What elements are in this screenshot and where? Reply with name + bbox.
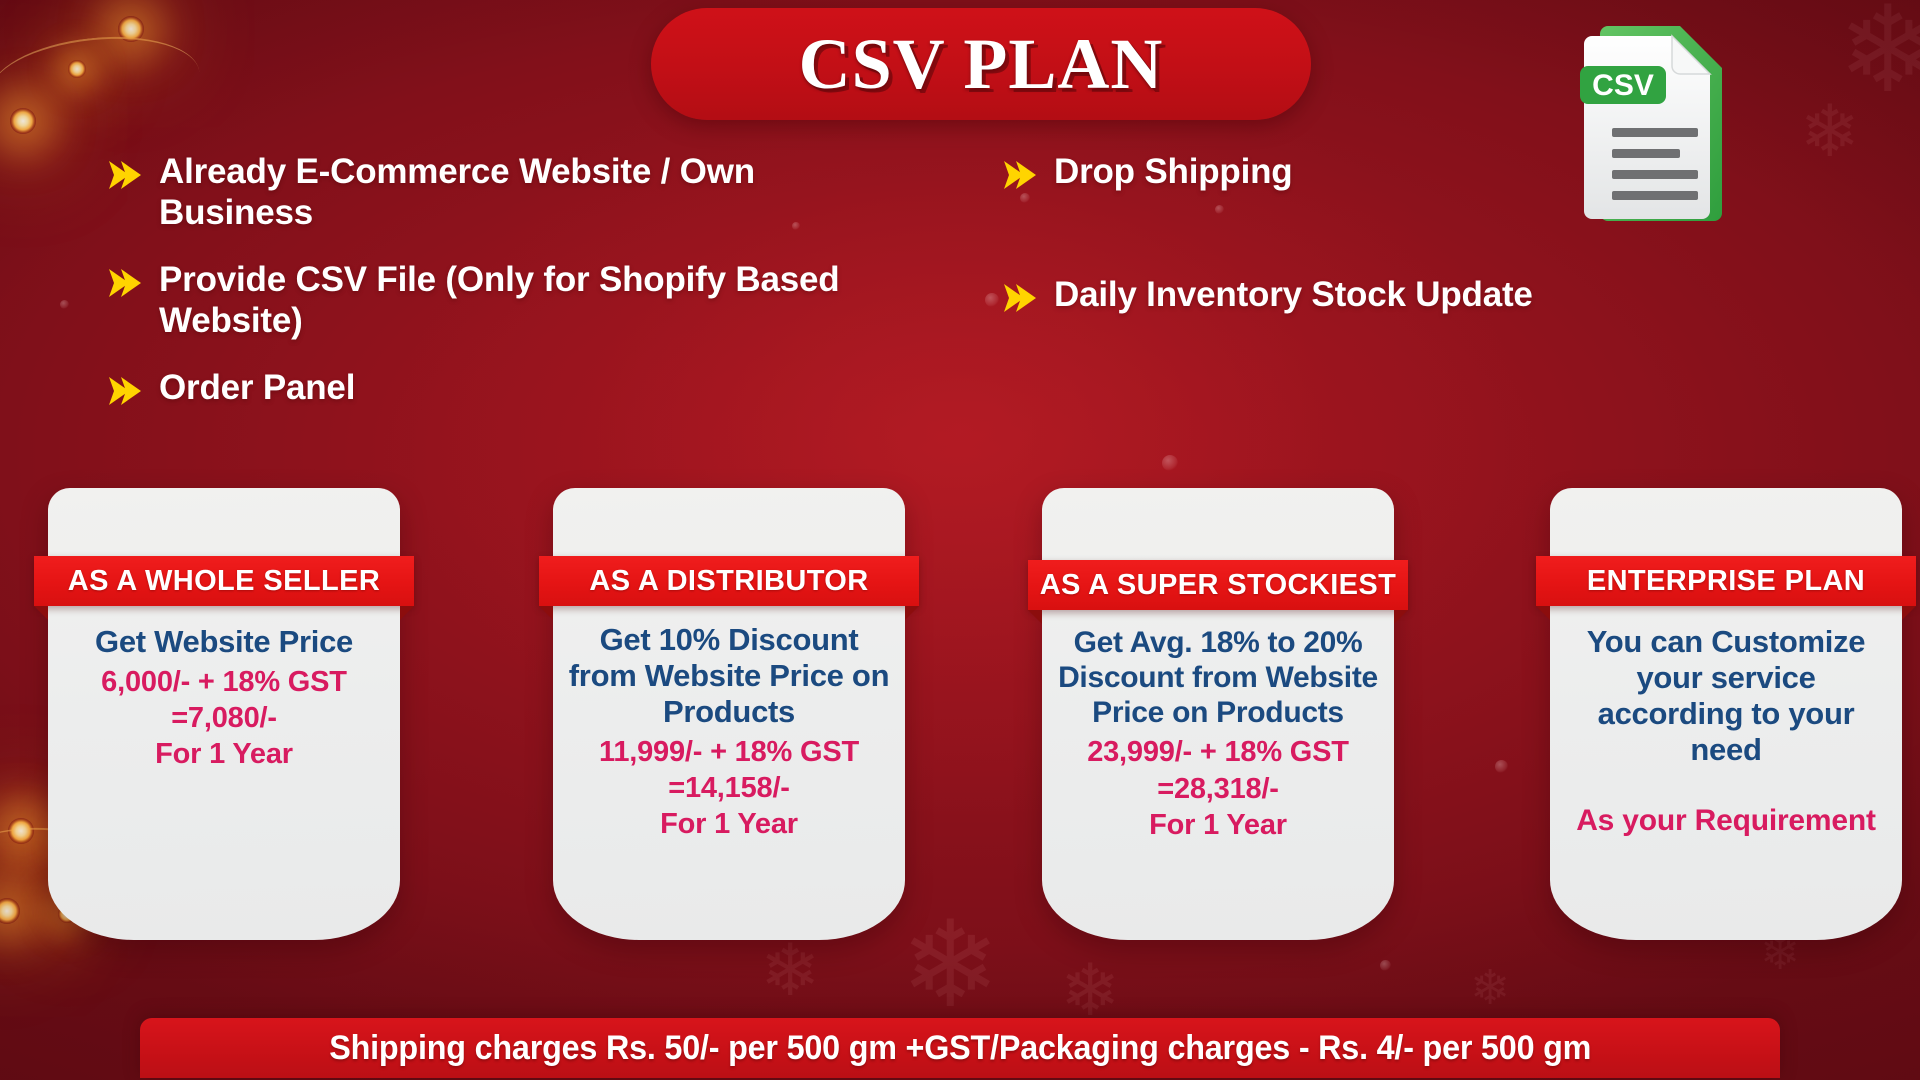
plan-ribbon: AS A DISTRIBUTOR — [539, 556, 919, 606]
ribbon-fold-left — [34, 606, 48, 620]
feature-item: Daily Inventory Stock Update — [1000, 275, 1790, 324]
feature-item: Drop Shipping — [1000, 152, 1790, 201]
plan-headline: Get 10% Discount from Website Price on P… — [565, 622, 893, 730]
plan-headline: Get Website Price — [60, 624, 388, 660]
plan-body: Get Avg. 18% to 20% Discount from Websit… — [1054, 626, 1382, 843]
plan-name: AS A DISTRIBUTOR — [589, 565, 868, 598]
plan-ribbon: ENTERPRISE PLAN — [1536, 556, 1916, 606]
plan-price: 11,999/- + 18% GST=14,158/-For 1 Year — [565, 734, 893, 843]
chevron-right-icon — [105, 264, 145, 309]
plan-price: As your Requirement — [1562, 802, 1890, 840]
plan-ribbon: AS A SUPER STOCKIEST — [1028, 560, 1408, 610]
ribbon-fold-right — [1394, 610, 1408, 624]
feature-item: Provide CSV File (Only for Shopify Based… — [105, 260, 895, 342]
plan-price: 23,999/- + 18% GST=28,318/-For 1 Year — [1054, 734, 1382, 843]
plan-price: 6,000/- + 18% GST=7,080/-For 1 Year — [60, 664, 388, 773]
feature-list-right: Drop Shipping Daily Inventory Stock Upda… — [1000, 152, 1790, 398]
feature-item: Already E-Commerce Website / Own Busines… — [105, 152, 895, 234]
footer-banner: Shipping charges Rs. 50/- per 500 gm +GS… — [140, 1018, 1780, 1078]
plan-name: AS A WHOLE SELLER — [68, 565, 380, 598]
pricing-card-enterprise[interactable]: ENTERPRISE PLAN You can Customize your s… — [1550, 488, 1902, 940]
plan-ribbon: AS A WHOLE SELLER — [34, 556, 414, 606]
ribbon-fold-right — [1902, 606, 1916, 620]
feature-label: Already E-Commerce Website / Own Busines… — [159, 152, 895, 234]
page-title: CSV PLAN — [799, 23, 1164, 106]
feature-label: Drop Shipping — [1054, 152, 1292, 193]
plan-body: Get 10% Discount from Website Price on P… — [565, 622, 893, 843]
chevron-right-icon — [1000, 156, 1040, 201]
feature-item: Order Panel — [105, 368, 895, 417]
feature-list-left: Already E-Commerce Website / Own Busines… — [105, 152, 895, 443]
ribbon-fold-right — [905, 606, 919, 620]
pricing-card-whole-seller[interactable]: AS A WHOLE SELLER Get Website Price 6,00… — [48, 488, 400, 940]
plan-headline: You can Customize your service according… — [1562, 624, 1890, 768]
ribbon-fold-right — [400, 606, 414, 620]
plan-headline: Get Avg. 18% to 20% Discount from Websit… — [1054, 626, 1382, 730]
plan-name: AS A SUPER STOCKIEST — [1040, 569, 1397, 602]
pricing-card-super-stockiest[interactable]: AS A SUPER STOCKIEST Get Avg. 18% to 20%… — [1042, 488, 1394, 940]
ribbon-fold-left — [1536, 606, 1550, 620]
plan-body: Get Website Price 6,000/- + 18% GST=7,08… — [60, 624, 388, 773]
ribbon-fold-left — [539, 606, 553, 620]
page-title-banner: CSV PLAN — [651, 8, 1311, 120]
chevron-right-icon — [1000, 279, 1040, 324]
ribbon-fold-left — [1028, 610, 1042, 624]
feature-label: Daily Inventory Stock Update — [1054, 275, 1533, 316]
pricing-card-distributor[interactable]: AS A DISTRIBUTOR Get 10% Discount from W… — [553, 488, 905, 940]
feature-label: Provide CSV File (Only for Shopify Based… — [159, 260, 895, 342]
csv-badge-label: CSV — [1592, 69, 1654, 102]
pricing-cards: AS A WHOLE SELLER Get Website Price 6,00… — [0, 488, 1920, 958]
chevron-right-icon — [105, 156, 145, 201]
chevron-right-icon — [105, 372, 145, 417]
plan-name: ENTERPRISE PLAN — [1587, 565, 1865, 598]
plan-body: You can Customize your service according… — [1562, 624, 1890, 839]
footer-text: Shipping charges Rs. 50/- per 500 gm +GS… — [329, 1029, 1591, 1068]
feature-label: Order Panel — [159, 368, 355, 409]
